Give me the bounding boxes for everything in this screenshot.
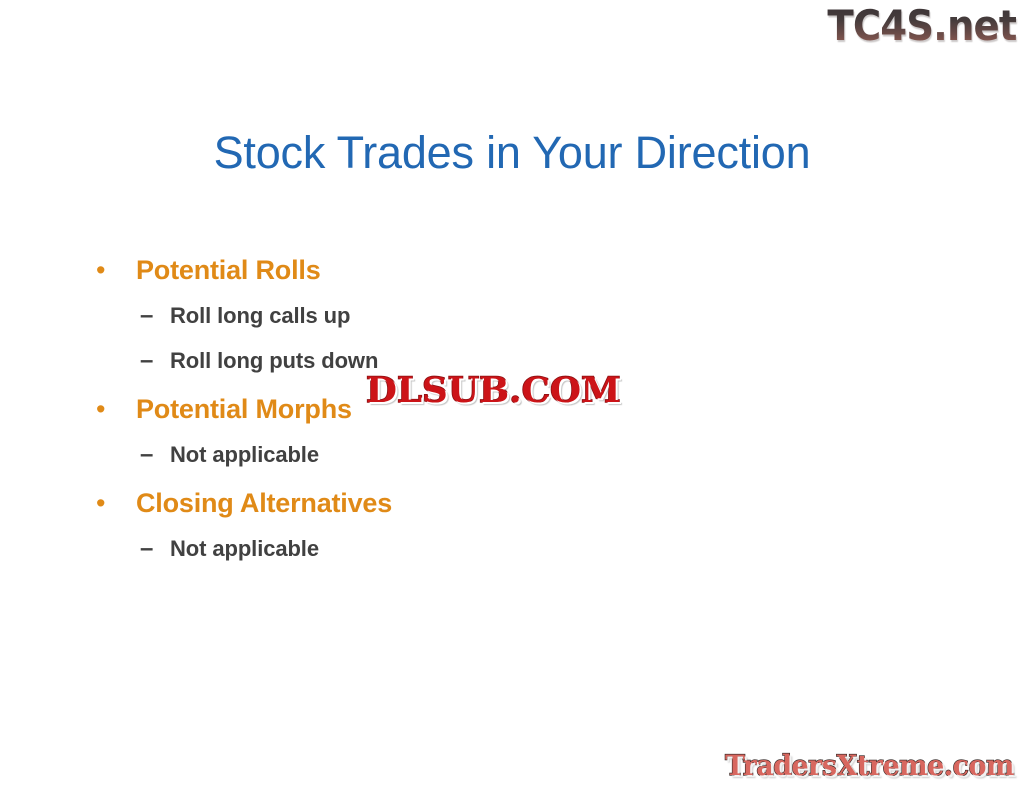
bullet-label: Not applicable [170,440,319,470]
bullet-marker-dot: • [96,252,136,288]
bullet-label: Not applicable [170,534,319,564]
bullet-label: Roll long calls up [170,301,350,331]
bullet-marker-dot: • [96,485,136,521]
bullet-label: Roll long puts down [170,346,378,376]
dlsub-watermark: DLSUB.COM [366,370,621,412]
bullet-marker-dash: – [140,534,170,564]
tc4s-brand-logo: TC4S.net [827,2,1016,50]
bullet-item-not-applicable-closing: – Not applicable [96,534,836,579]
bullet-marker-dash: – [140,346,170,376]
bullet-marker-dash: – [140,440,170,470]
bullet-item-not-applicable-morphs: – Not applicable [96,440,836,485]
bullet-item-closing-alternatives: • Closing Alternatives [96,485,836,534]
bullet-label: Potential Morphs [136,391,352,427]
bullet-marker-dash: – [140,301,170,331]
bullet-list: • Potential Rolls – Roll long calls up –… [96,252,836,579]
bullet-label: Potential Rolls [136,252,321,288]
tradersxtreme-footer-logo: TradersXtreme.com [725,749,1014,783]
bullet-item-potential-rolls: • Potential Rolls [96,252,836,301]
bullet-item-roll-long-calls-up: – Roll long calls up [96,301,836,346]
slide-title: Stock Trades in Your Direction [0,126,1024,180]
bullet-marker-dot: • [96,391,136,427]
presentation-slide: TC4S.net Stock Trades in Your Direction … [0,0,1024,791]
bullet-label: Closing Alternatives [136,485,392,521]
